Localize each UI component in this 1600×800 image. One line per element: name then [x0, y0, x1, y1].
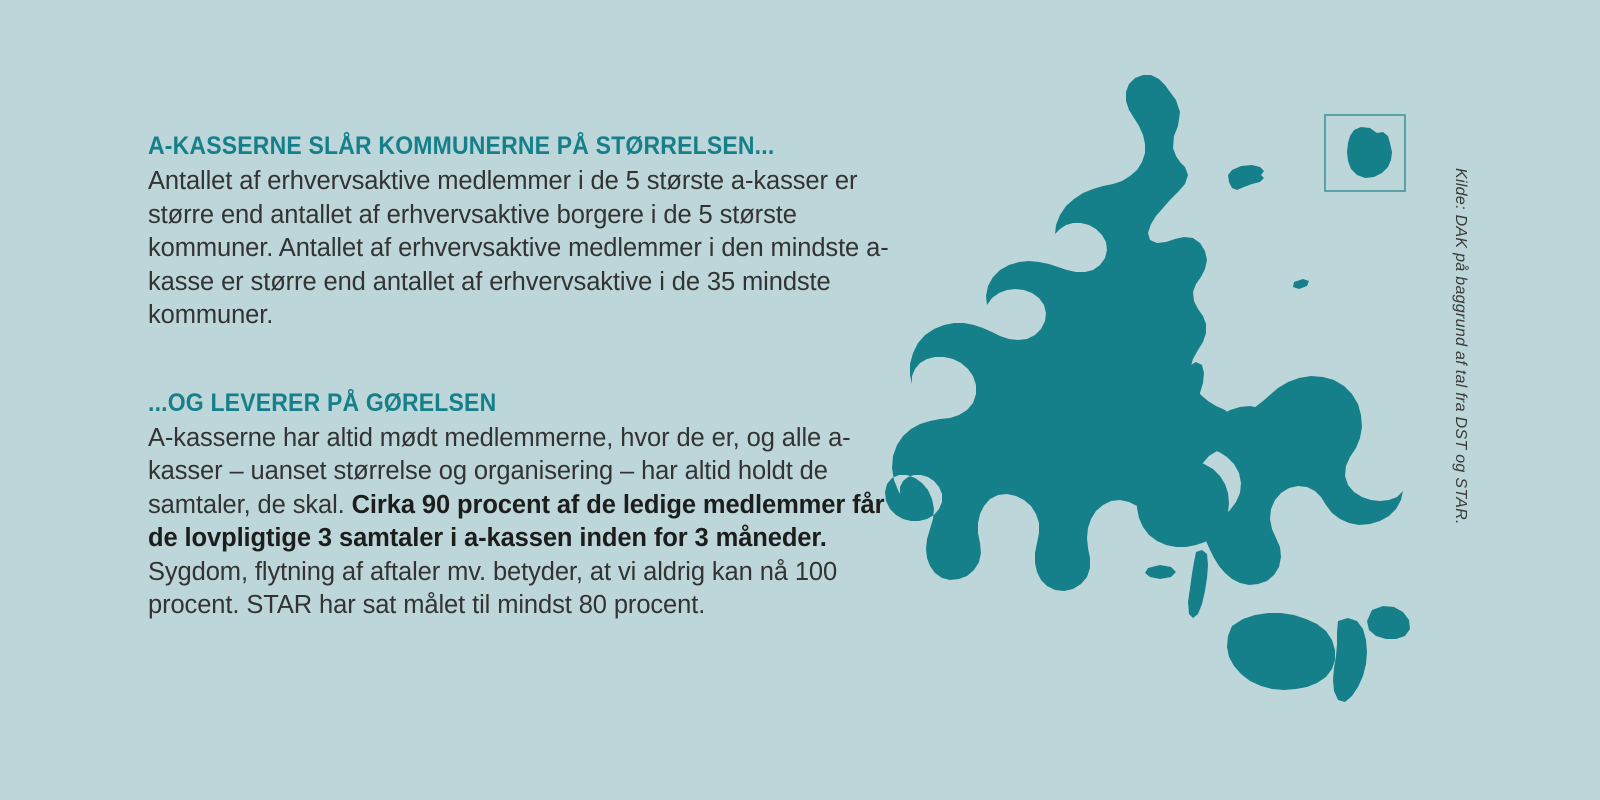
- text-column: A-KASSERNE SLÅR KOMMUNERNE PÅ STØRRELSEN…: [148, 132, 908, 623]
- anholt-island: [1293, 279, 1309, 289]
- denmark-map-svg: [880, 70, 1480, 710]
- langeland-island: [1188, 550, 1208, 618]
- section-body-1: Antallet af erhvervsaktive medlemmer i d…: [148, 165, 908, 333]
- section-a-kasserne-storrelsen: A-KASSERNE SLÅR KOMMUNERNE PÅ STØRRELSEN…: [148, 132, 908, 333]
- aero-island: [1145, 565, 1176, 579]
- infographic-canvas: A-KASSERNE SLÅR KOMMUNERNE PÅ STØRRELSEN…: [0, 0, 1600, 800]
- zealand-island: [1192, 376, 1403, 585]
- denmark-map: [880, 70, 1480, 710]
- normal-run: Antallet af erhvervsaktive medlemmer i d…: [148, 167, 889, 329]
- normal-run: Sygdom, flytning af aftaler mv. betyder,…: [148, 558, 837, 620]
- laeso-island: [1228, 165, 1264, 190]
- bornholm-island: [1347, 127, 1392, 178]
- section-heading-1: A-KASSERNE SLÅR KOMMUNERNE PÅ STØRRELSEN…: [148, 132, 847, 161]
- falster-island: [1333, 618, 1367, 702]
- section-heading-2: ...OG LEVERER PÅ GØRELSEN: [148, 389, 847, 418]
- section-og-leverer-paa-goerelsen: ...OG LEVERER PÅ GØRELSEN A-kasserne har…: [148, 389, 908, 623]
- lolland-island: [1227, 613, 1335, 690]
- moen-island: [1367, 606, 1410, 639]
- section-body-2: A-kasserne har altid mødt medlemmerne, h…: [148, 422, 908, 623]
